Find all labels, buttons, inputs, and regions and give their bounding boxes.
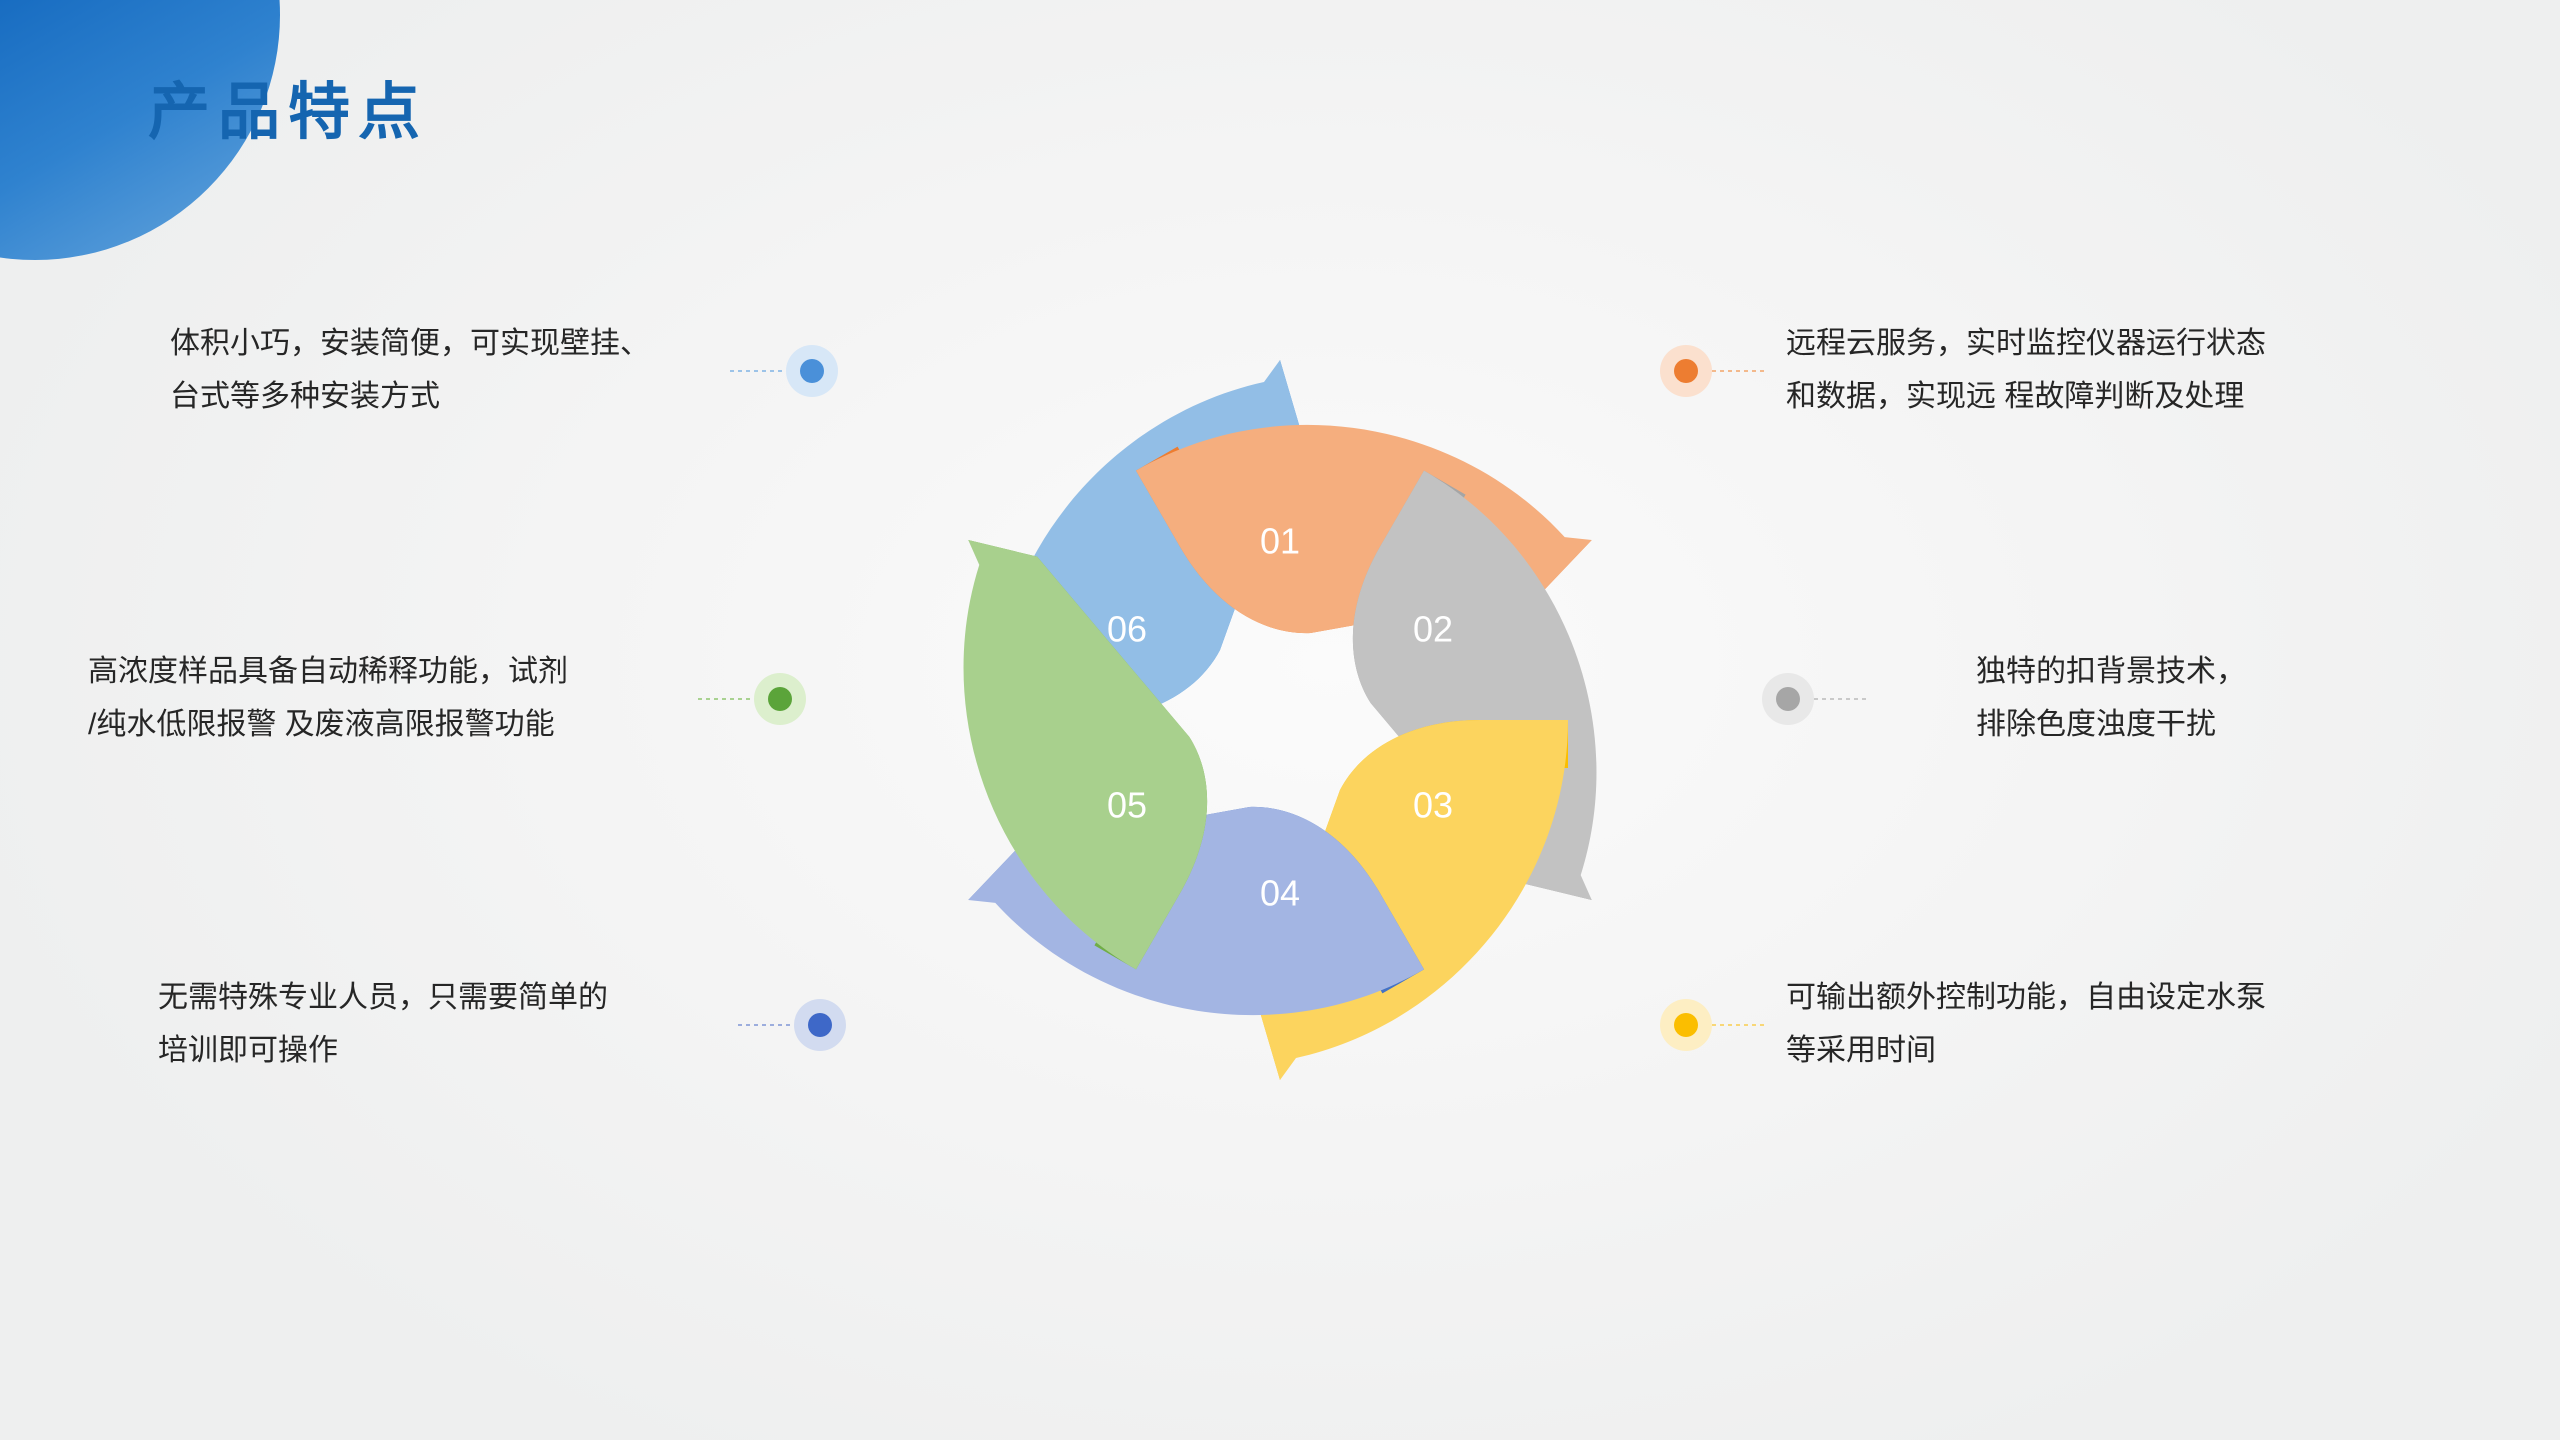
callout-02-dot-core [1674, 359, 1698, 383]
callout-03[interactable]: 独特的扣背景技术， 排除色度浊度干扰 [1762, 646, 2452, 751]
callout-05-dot-core [808, 1013, 832, 1037]
callout-03-text: 独特的扣背景技术， 排除色度浊度干扰 [1976, 646, 2246, 751]
callout-06-connector [698, 698, 754, 700]
wheel-segment-03-label: 03 [1413, 785, 1453, 826]
callout-03-dot[interactable] [1762, 673, 1814, 725]
wheel-segment-01-label: 01 [1260, 521, 1300, 562]
callout-06[interactable]: 高浓度样品具备自动稀释功能，试剂 /纯水低限报警 及废液高限报警功能 [88, 646, 828, 751]
callout-04-dot[interactable] [1660, 999, 1712, 1051]
callout-04-text: 可输出额外控制功能，自由设定水泵 等采用时间 [1786, 972, 2266, 1077]
page-title: 产品特点 [148, 82, 428, 144]
callout-02-dot[interactable] [1660, 345, 1712, 397]
callout-02-connector [1712, 370, 1768, 372]
wheel-segment-02-label: 02 [1413, 609, 1453, 650]
callout-01-text: 体积小巧，安装简便，可实现壁挂、 台式等多种安装方式 [170, 318, 730, 423]
callout-01[interactable]: 体积小巧，安装简便，可实现壁挂、 台式等多种安装方式 [170, 318, 870, 423]
wheel-segment-04-label: 04 [1260, 873, 1300, 914]
callout-06-dot-core [768, 687, 792, 711]
callout-03-dot-core [1776, 687, 1800, 711]
callout-01-connector [730, 370, 786, 372]
pinwheel-diagram: 01 02 03 04 05 06 [880, 320, 1680, 1120]
callout-01-dot-core [800, 359, 824, 383]
callout-06-text: 高浓度样品具备自动稀释功能，试剂 /纯水低限报警 及废液高限报警功能 [88, 646, 698, 751]
callout-05-text: 无需特殊专业人员，只需要简单的 培训即可操作 [158, 972, 738, 1077]
callout-03-connector [1814, 698, 1870, 700]
callout-04-connector [1712, 1024, 1768, 1026]
slide-canvas: 产品特点 [0, 0, 2560, 1440]
callout-02[interactable]: 远程云服务，实时监控仪器运行状态 和数据，实现远 程故障判断及处理 [1660, 318, 2450, 423]
callout-06-dot[interactable] [754, 673, 806, 725]
callout-05-connector [738, 1024, 794, 1026]
callout-05[interactable]: 无需特殊专业人员，只需要简单的 培训即可操作 [158, 972, 898, 1077]
callout-04[interactable]: 可输出额外控制功能，自由设定水泵 等采用时间 [1660, 972, 2450, 1077]
wheel-segment-06-label: 06 [1107, 609, 1147, 650]
wheel-segment-05-label: 05 [1107, 785, 1147, 826]
callout-01-dot[interactable] [786, 345, 838, 397]
callout-02-text: 远程云服务，实时监控仪器运行状态 和数据，实现远 程故障判断及处理 [1786, 318, 2266, 423]
callout-05-dot[interactable] [794, 999, 846, 1051]
callout-04-dot-core [1674, 1013, 1698, 1037]
